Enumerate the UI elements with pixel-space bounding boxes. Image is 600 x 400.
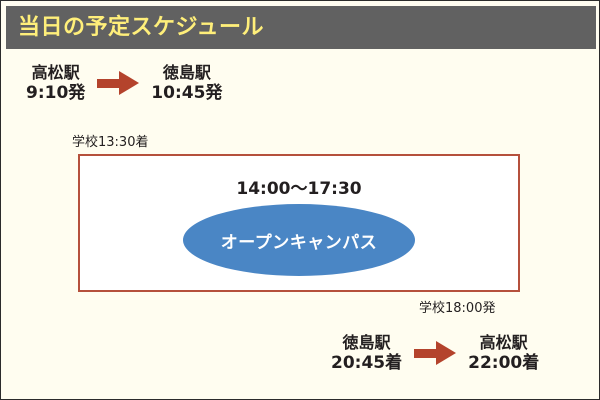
return-destination: 高松駅 22:00着 <box>468 333 539 373</box>
school-departure-label: 学校18:00発 <box>419 297 495 316</box>
outbound-destination-station: 徳島駅 <box>151 63 222 83</box>
page-title: 当日の予定スケジュール <box>18 17 264 39</box>
schedule-canvas: 高松駅 9:10発 徳島駅 10:45発 学校13:30着 14:00〜17:3… <box>6 49 596 396</box>
arrow-shaft <box>414 349 438 358</box>
return-origin: 徳島駅 20:45着 <box>331 333 402 373</box>
arrow-shaft <box>97 79 121 88</box>
arrow-head <box>436 341 456 365</box>
event-ellipse: オープンキャンパス <box>183 204 415 276</box>
schedule-poster: 当日の予定スケジュール 高松駅 9:10発 徳島駅 10:45発 学校13:30… <box>0 0 600 400</box>
right-arrow-icon <box>97 70 139 96</box>
outbound-origin-time: 9:10発 <box>26 83 85 104</box>
event-time-range: 14:00〜17:30 <box>80 174 518 199</box>
return-origin-station: 徳島駅 <box>331 333 402 353</box>
outbound-leg: 高松駅 9:10発 徳島駅 10:45発 <box>26 63 222 103</box>
school-arrival-label: 学校13:30着 <box>72 131 148 150</box>
event-box: 14:00〜17:30 オープンキャンパス <box>78 154 520 292</box>
outbound-origin: 高松駅 9:10発 <box>26 63 85 103</box>
return-destination-time: 22:00着 <box>468 353 539 374</box>
return-leg: 徳島駅 20:45着 高松駅 22:00着 <box>331 333 539 373</box>
event-name: オープンキャンパス <box>221 228 377 253</box>
outbound-origin-station: 高松駅 <box>26 63 85 83</box>
outbound-destination-time: 10:45発 <box>151 83 222 104</box>
right-arrow-icon <box>414 340 456 366</box>
arrow-head <box>119 71 139 95</box>
return-destination-station: 高松駅 <box>468 333 539 353</box>
header-bar: 当日の予定スケジュール <box>6 6 596 49</box>
return-origin-time: 20:45着 <box>331 353 402 374</box>
outbound-destination: 徳島駅 10:45発 <box>151 63 222 103</box>
